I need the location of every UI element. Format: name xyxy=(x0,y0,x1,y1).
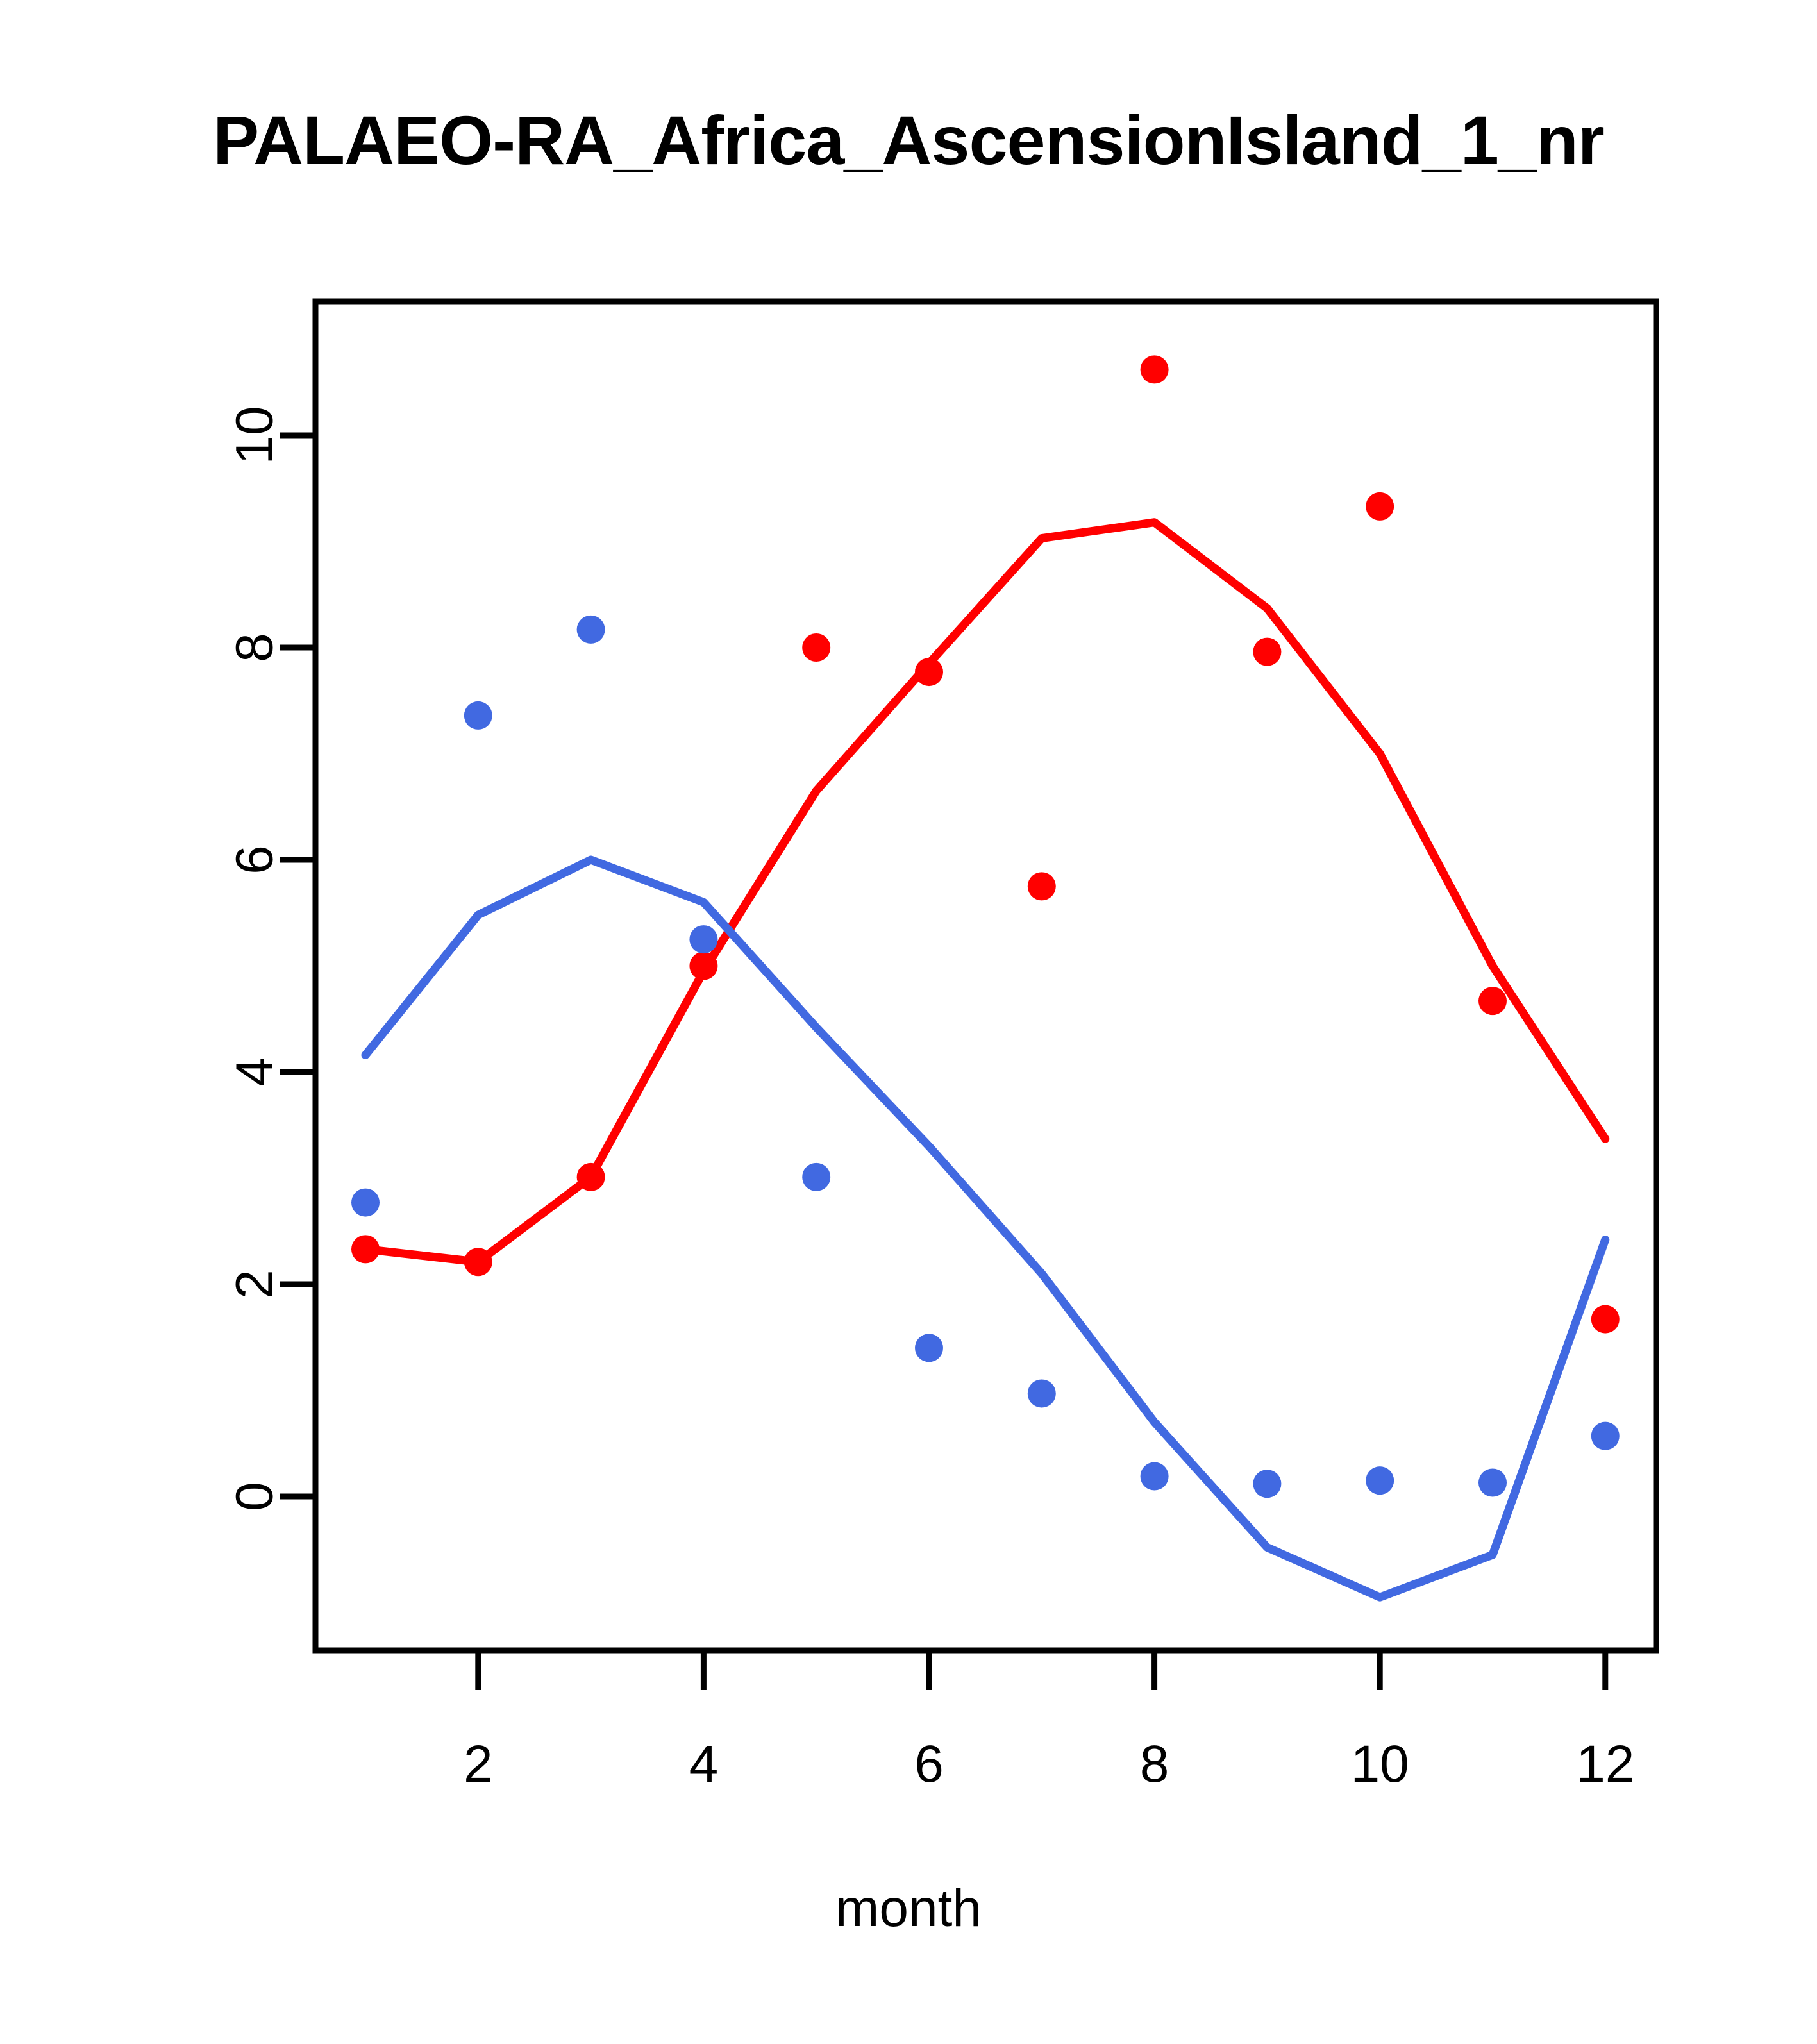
data-point-red-points xyxy=(464,1248,492,1276)
x-axis: 24681012 xyxy=(464,1650,1634,1793)
data-point-red-points xyxy=(689,952,717,980)
data-point-blue-points xyxy=(1141,1462,1169,1491)
data-point-blue-points xyxy=(1253,1470,1281,1498)
data-point-red-points xyxy=(1028,872,1056,900)
y-axis-tick-label: 0 xyxy=(226,1482,284,1511)
x-axis-tick-label: 12 xyxy=(1576,1735,1634,1793)
data-point-red-points xyxy=(1366,492,1394,521)
data-point-red-points xyxy=(1478,987,1507,1015)
series-line-red-line xyxy=(365,523,1605,1262)
chart-plot-area: 0246810 24681012 xyxy=(0,0,1817,2044)
data-point-blue-points xyxy=(351,1189,380,1217)
data-point-blue-points xyxy=(689,925,717,953)
data-point-red-points xyxy=(915,658,943,686)
x-axis-tick-label: 8 xyxy=(1140,1735,1169,1793)
x-axis-tick-label: 10 xyxy=(1351,1735,1409,1793)
data-point-blue-points xyxy=(802,1163,830,1191)
data-point-blue-points xyxy=(1366,1466,1394,1495)
data-point-blue-points xyxy=(1478,1468,1507,1496)
data-point-blue-points xyxy=(464,701,492,730)
data-series-layer xyxy=(351,355,1620,1597)
data-point-red-points xyxy=(577,1163,605,1191)
data-point-red-points xyxy=(1141,355,1169,383)
data-point-blue-points xyxy=(577,616,605,644)
y-axis-tick-label: 8 xyxy=(226,633,284,662)
x-axis-label: month xyxy=(0,1879,1817,1939)
data-point-red-points xyxy=(1591,1305,1620,1334)
y-axis-tick-label: 10 xyxy=(226,406,284,464)
figure-canvas: PALAEO-RA_Africa_AscensionIsland_1_nr 02… xyxy=(0,0,1817,2044)
x-axis-tick-label: 6 xyxy=(914,1735,944,1793)
data-point-blue-points xyxy=(1028,1379,1056,1407)
series-line-blue-line xyxy=(365,860,1605,1597)
x-axis-tick-label: 4 xyxy=(689,1735,719,1793)
data-point-red-points xyxy=(802,633,830,662)
data-point-blue-points xyxy=(1591,1422,1620,1450)
y-axis-tick-label: 4 xyxy=(226,1057,284,1087)
data-point-red-points xyxy=(1253,638,1281,666)
plot-box-frame xyxy=(315,301,1656,1650)
y-axis: 0246810 xyxy=(226,406,316,1511)
data-point-red-points xyxy=(351,1235,380,1263)
data-point-blue-points xyxy=(915,1334,943,1362)
y-axis-tick-label: 6 xyxy=(226,845,284,875)
y-axis-tick-label: 2 xyxy=(226,1269,284,1299)
x-axis-tick-label: 2 xyxy=(464,1735,493,1793)
